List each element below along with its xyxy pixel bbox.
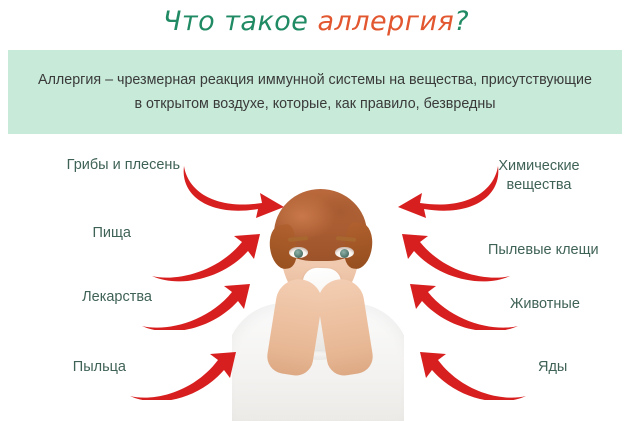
arrow-from-mites — [400, 232, 512, 282]
page-title: Что такое аллергия? — [0, 6, 632, 37]
arrow-from-chemicals — [396, 162, 506, 224]
arrow-from-meds — [140, 280, 252, 330]
allergen-label-pollen: Пыльца — [0, 358, 126, 377]
title-part-what-is: Что такое — [163, 6, 318, 37]
arrow-from-animals — [408, 280, 520, 330]
allergen-label-poisons: Яды — [538, 358, 632, 377]
arrow-from-poisons — [418, 348, 528, 400]
arrow-from-food — [150, 232, 262, 282]
arrow-from-pollen — [128, 348, 238, 400]
definition-box: Аллергия – чрезмерная реакция иммунной с… — [8, 50, 622, 134]
iris-right — [340, 249, 349, 258]
allergen-label-mold: Грибы и плесень — [0, 156, 180, 175]
title-part-allergy: аллергия — [318, 6, 455, 37]
arrow-from-mold — [176, 162, 286, 224]
definition-text: Аллергия – чрезмерная реакция иммунной с… — [35, 68, 595, 116]
allergen-label-animals: Животные — [510, 295, 632, 314]
title-part-question-mark: ? — [454, 6, 469, 37]
allergen-label-meds: Лекарства — [0, 288, 152, 307]
allergen-label-food: Пища — [0, 224, 131, 243]
iris-left — [294, 249, 303, 258]
